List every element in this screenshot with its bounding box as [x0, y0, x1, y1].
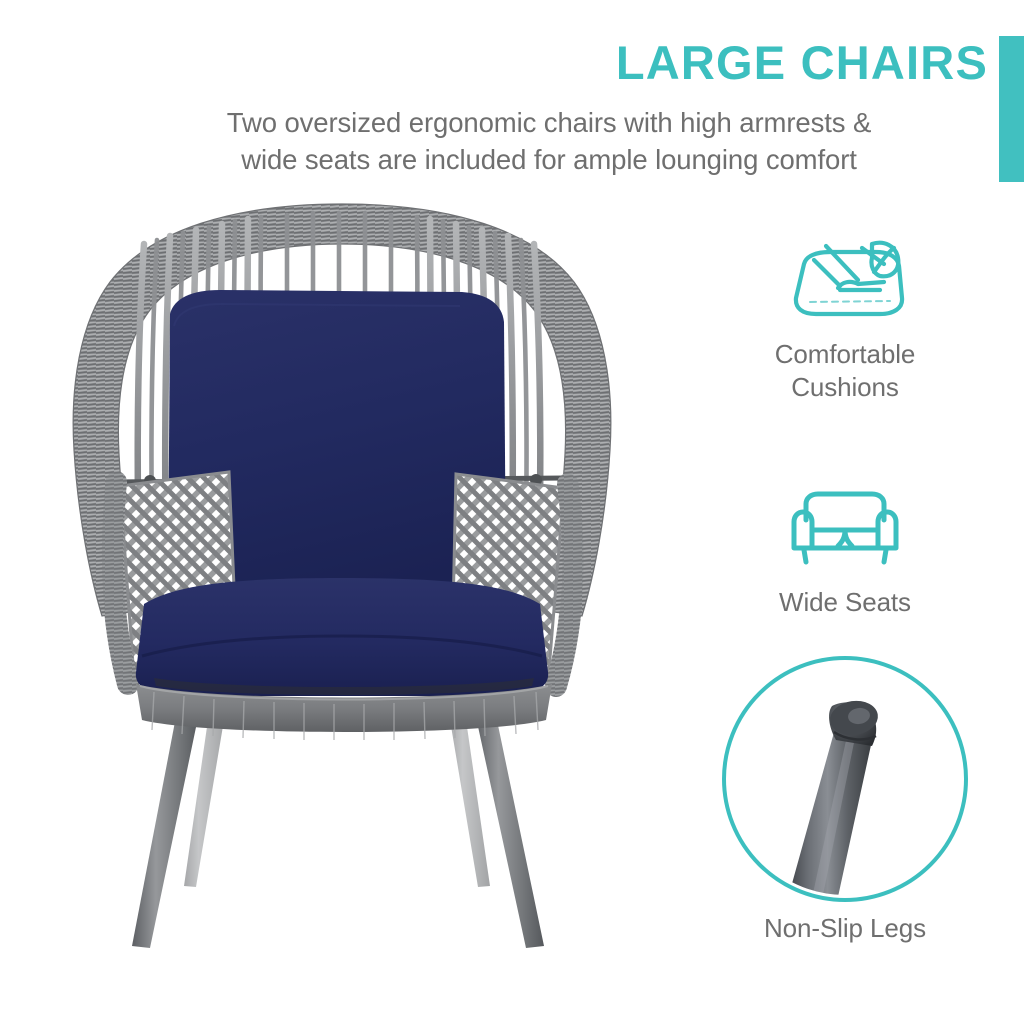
subtitle-line-1: Two oversized ergonomic chairs with high…	[227, 107, 871, 138]
feature-wide-seats: Wide Seats	[690, 490, 1000, 619]
chair-illustration	[24, 186, 664, 966]
hand-pressing-cushion-icon	[780, 228, 910, 324]
seat-cushion	[136, 578, 548, 696]
chair-legs	[132, 706, 544, 948]
feature-label-cushions: Comfortable Cushions	[690, 338, 1000, 404]
subtitle-line-2: wide seats are included for ample loungi…	[110, 141, 988, 178]
product-feature-page: LARGE CHAIRS Two oversized ergonomic cha…	[0, 0, 1024, 1024]
icon-wrap-seats	[690, 490, 1000, 574]
feature-label-legs-line1: Non-Slip Legs	[764, 913, 926, 943]
icon-wrap-cushions	[690, 228, 1000, 324]
feature-label-seats: Wide Seats	[690, 586, 1000, 619]
sofa-icon	[784, 490, 906, 574]
feature-non-slip-legs: Non-Slip Legs	[690, 656, 1000, 945]
chair-leg-foot-photo	[726, 660, 964, 898]
feature-label-cushions-line2: Cushions	[791, 372, 899, 402]
page-title: LARGE CHAIRS	[430, 36, 988, 90]
feature-label-legs: Non-Slip Legs	[690, 912, 1000, 945]
feature-comfortable-cushions: Comfortable Cushions	[690, 228, 1000, 404]
feature-label-seats-line1: Wide Seats	[779, 587, 911, 617]
page-subtitle: Two oversized ergonomic chairs with high…	[110, 104, 988, 178]
accent-bar	[999, 36, 1024, 182]
leg-detail-circle	[722, 656, 968, 902]
feature-label-cushions-line1: Comfortable	[775, 339, 916, 369]
product-image-chair	[24, 186, 664, 966]
